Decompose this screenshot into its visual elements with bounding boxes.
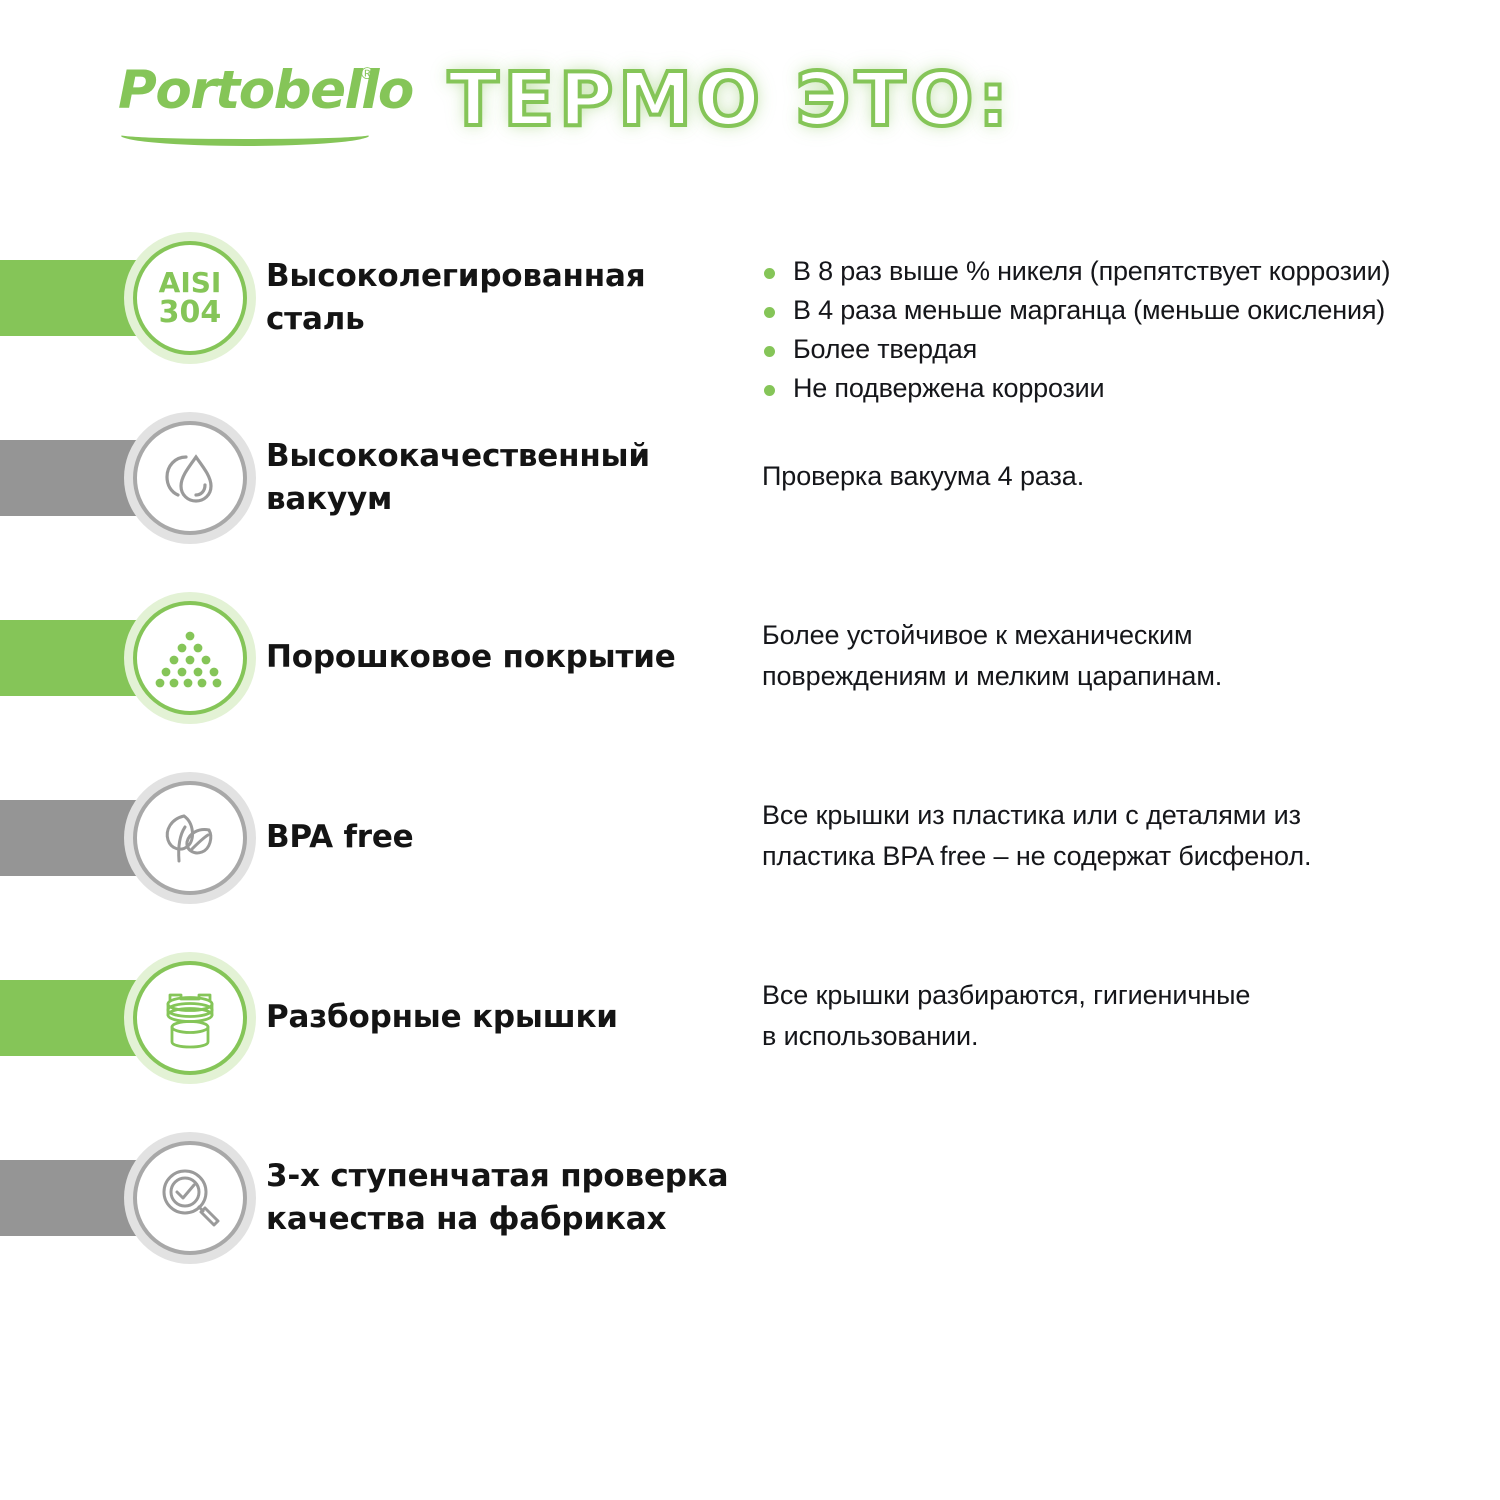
icon-badge — [133, 1141, 247, 1255]
icon-badge — [133, 421, 247, 535]
list-item-label: Не подвержена коррозии — [793, 373, 1104, 403]
icon-badge — [133, 961, 247, 1075]
feature-title: 3-х ступенчатая проверка качества на фаб… — [266, 1155, 728, 1241]
bullet-dot-icon — [764, 346, 775, 357]
feature-row-powder-coating: Порошковое покрытие Более устойчивое к м… — [0, 588, 1500, 768]
list-item: Не подвержена коррозии — [762, 369, 1390, 408]
icon-badge: AISI 304 — [133, 241, 247, 355]
feature-title: BPA free — [266, 816, 414, 859]
feature-title: Порошковое покрытие — [266, 636, 676, 679]
list-item: В 8 раз выше % никеля (препятствует корр… — [762, 252, 1390, 291]
aisi-304-badge-icon: AISI 304 — [133, 241, 247, 355]
feature-row-detachable-lids: Разборные крышки Все крышки разбираются,… — [0, 948, 1500, 1128]
infographic-page: Portobello ® ТЕРМО ЭТО: AISI 304 Высокол… — [0, 0, 1500, 1500]
portobello-logo: Portobello ® — [118, 62, 408, 152]
bullet-dot-icon — [764, 385, 775, 396]
page-header: Portobello ® ТЕРМО ЭТО: — [0, 0, 1500, 200]
bullet-dot-icon — [764, 268, 775, 279]
feature-title: Высоколегированная сталь — [266, 255, 645, 341]
feature-body: Более устойчивое к механическим поврежде… — [762, 615, 1222, 697]
icon-badge — [133, 601, 247, 715]
feature-row-quality-check: 3-х ступенчатая проверка качества на фаб… — [0, 1128, 1500, 1308]
feature-row-high-alloy-steel: AISI 304 Высоколегированная сталь В 8 ра… — [0, 228, 1500, 408]
list-item-label: В 8 раз выше % никеля (препятствует корр… — [793, 256, 1390, 286]
icon-badge — [133, 781, 247, 895]
feature-row-high-quality-vacuum: Высококачественный вакуум Проверка вакуу… — [0, 408, 1500, 588]
feature-bullet-list: В 8 раз выше % никеля (препятствует корр… — [762, 252, 1390, 408]
feature-title: Высококачественный вакуум — [266, 435, 650, 521]
page-title: ТЕРМО ЭТО: — [448, 54, 1013, 146]
aisi-grade: 304 — [159, 298, 222, 328]
bullet-dot-icon — [764, 307, 775, 318]
magnifier-check-icon — [133, 1141, 247, 1255]
list-item: Более твердая — [762, 330, 1390, 369]
detachable-lid-icon — [133, 961, 247, 1075]
list-item-label: Более твердая — [793, 334, 977, 364]
feature-body: Проверка вакуума 4 раза. — [762, 456, 1084, 497]
feature-body: Все крышки разбираются, гигиеничные в ис… — [762, 975, 1250, 1057]
water-drop-icon — [133, 421, 247, 535]
two-leaves-icon — [133, 781, 247, 895]
logo-swoosh-icon — [120, 124, 370, 146]
list-item: В 4 раза меньше марганца (меньше окислен… — [762, 291, 1390, 330]
feature-row-bpa-free: BPA free Все крышки из пластика или с де… — [0, 768, 1500, 948]
feature-body: Все крышки из пластика или с деталями из… — [762, 795, 1311, 877]
registered-trademark-icon: ® — [361, 64, 374, 84]
powder-dots-icon — [133, 601, 247, 715]
list-item-label: В 4 раза меньше марганца (меньше окислен… — [793, 295, 1385, 325]
feature-title: Разборные крышки — [266, 996, 618, 1039]
